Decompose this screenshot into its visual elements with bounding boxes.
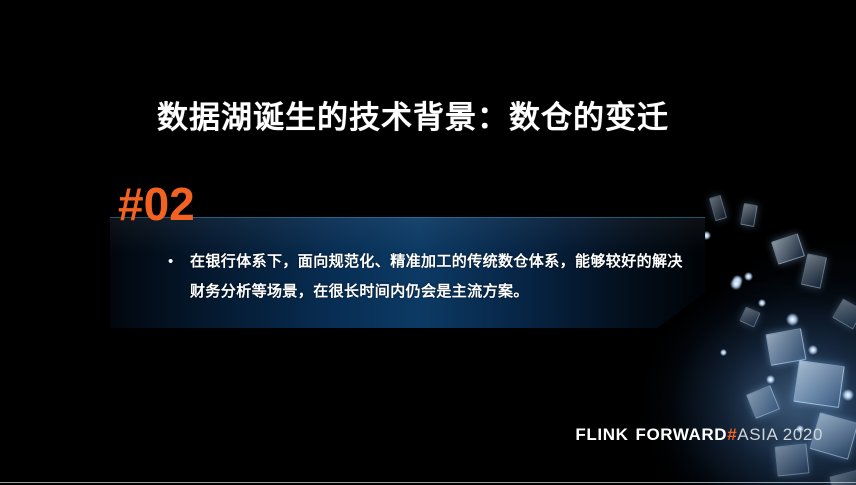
brand-hash-icon: # (727, 425, 737, 444)
bottom-divider (0, 482, 856, 483)
brand-event-name: ASIA 2020 (737, 425, 823, 444)
section-number: #02 (118, 181, 195, 227)
floating-cube (709, 195, 727, 221)
brand-word-flink: FLINK (575, 425, 628, 444)
floating-spark (744, 272, 753, 281)
presentation-slide: 数据湖诞生的技术背景：数仓的变迁 #02 • 在银行体系下，面向规范化、精准加工… (0, 0, 856, 485)
brand-word-forward: FORWARD (635, 425, 727, 444)
bullet-marker-icon: • (168, 247, 190, 277)
slide-title: 数据湖诞生的技术背景：数仓的变迁 (157, 92, 669, 137)
floating-spark (730, 278, 742, 290)
bullet-list: • 在银行体系下，面向规范化、精准加工的传统数仓体系，能够较好的解决财务分析等场… (168, 247, 688, 307)
floating-cube (740, 203, 758, 227)
bullet-text: 在银行体系下，面向规范化、精准加工的传统数仓体系，能够较好的解决财务分析等场景，… (190, 247, 688, 307)
brand-logo: FLINKFORWARD#ASIA 2020 (575, 425, 823, 445)
